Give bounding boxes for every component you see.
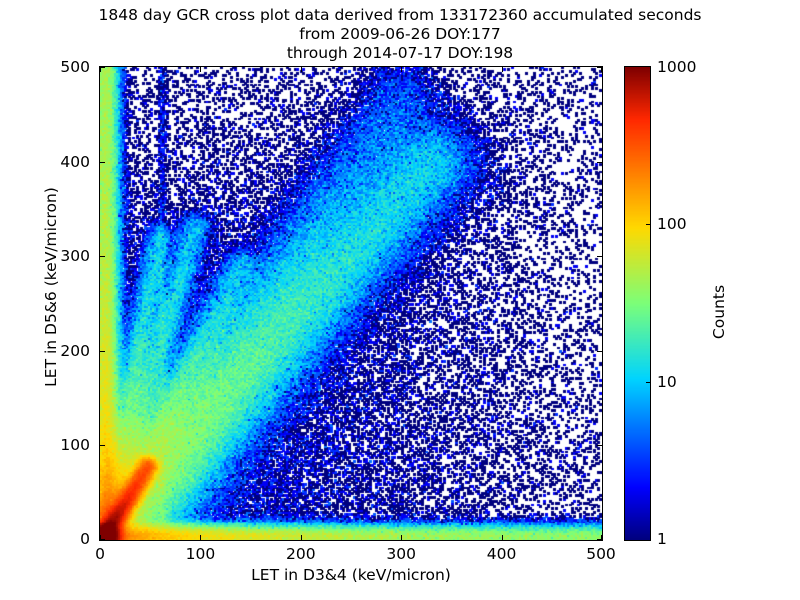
x-tick-label: 300 [386, 545, 416, 563]
y-tick-label: 0 [0, 530, 90, 548]
main-plot-axes [99, 66, 603, 541]
colorbar-tick-label: 100 [657, 215, 687, 233]
y-axis-label: LET in D5&6 (keV/micron) [42, 117, 60, 457]
figure-title: 1848 day GCR cross plot data derived fro… [0, 6, 800, 63]
x-tick-mark-top [301, 67, 302, 72]
y-tick-mark-right [597, 256, 602, 257]
title-line-1: 1848 day GCR cross plot data derived fro… [0, 6, 800, 25]
x-tick-label: 0 [95, 545, 105, 563]
x-axis-label: LET in D3&4 (keV/micron) [99, 566, 603, 584]
y-tick-mark [100, 67, 105, 68]
x-tick-mark-top [200, 67, 201, 72]
figure-canvas: 1848 day GCR cross plot data derived fro… [0, 0, 800, 600]
x-tick-mark [200, 535, 201, 540]
colorbar-axes [624, 66, 651, 541]
colorbar-title: Counts [710, 232, 728, 392]
y-tick-mark-right [597, 539, 602, 540]
x-tick-mark [502, 535, 503, 540]
x-tick-mark-top [401, 67, 402, 72]
y-tick-mark-right [597, 445, 602, 446]
x-tick-mark [401, 535, 402, 540]
y-tick-mark-right [597, 162, 602, 163]
colorbar-gradient [625, 67, 650, 540]
colorbar-tick-label: 10 [657, 373, 677, 391]
density-heatmap [100, 67, 602, 540]
y-tick-mark [100, 539, 105, 540]
colorbar-tick-label: 1000 [657, 58, 696, 76]
colorbar-tick-label: 1 [657, 530, 667, 548]
y-tick-mark-right [597, 351, 602, 352]
colorbar-tick-mark [646, 382, 650, 383]
title-line-2: from 2009-06-26 DOY:177 [0, 25, 800, 44]
y-tick-mark [100, 445, 105, 446]
x-tick-mark-top [502, 67, 503, 72]
x-tick-label: 400 [487, 545, 517, 563]
x-tick-label: 200 [286, 545, 316, 563]
y-tick-label: 500 [0, 58, 90, 76]
y-tick-mark [100, 256, 105, 257]
y-tick-mark [100, 351, 105, 352]
x-tick-mark [301, 535, 302, 540]
x-tick-label: 100 [186, 545, 216, 563]
x-tick-label: 500 [586, 545, 616, 563]
y-tick-mark-right [597, 67, 602, 68]
colorbar-tick-mark [646, 224, 650, 225]
y-tick-mark [100, 162, 105, 163]
